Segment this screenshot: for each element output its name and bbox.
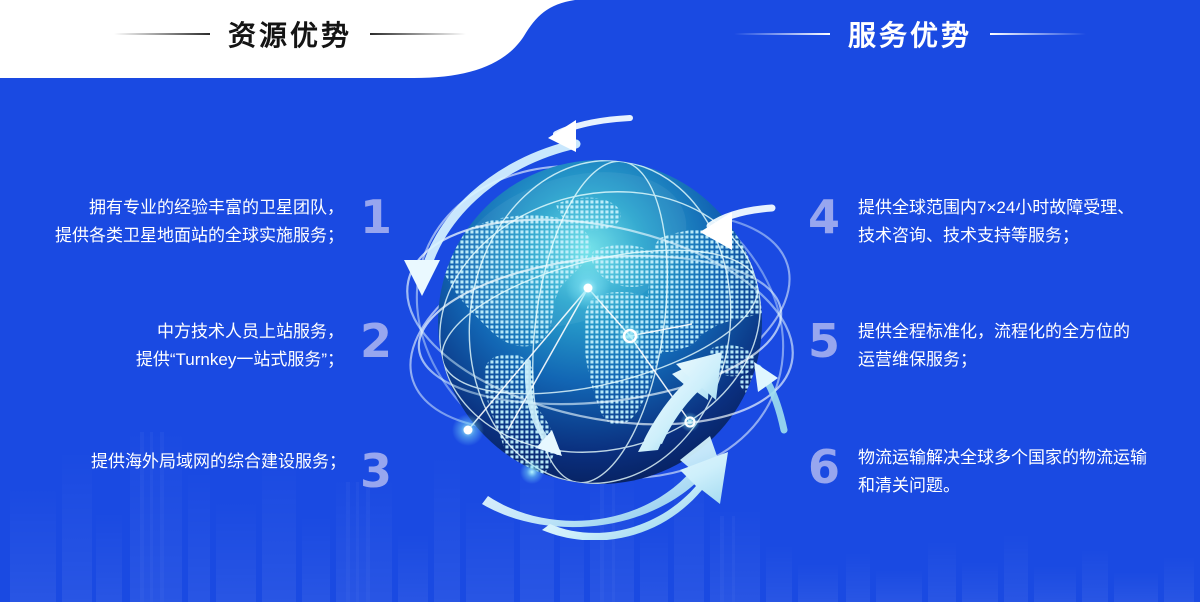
feature-item-3-text: 提供海外局域网的综合建设服务；	[91, 448, 346, 476]
feature-item-5[interactable]: 5 提供全程标准化，流程化的全方位的 运营维保服务；	[808, 318, 1130, 373]
feature-item-6[interactable]: 6 物流运输解决全球多个国家的物流运输 和清关问题。	[808, 444, 1147, 499]
feature-item-2-text: 中方技术人员上站服务， 提供“Turnkey一站式服务”；	[136, 318, 344, 373]
header-right-rule-start	[734, 33, 830, 35]
feature-item-5-text: 提供全程标准化，流程化的全方位的 运营维保服务；	[858, 318, 1130, 373]
header-left-rule-end	[370, 33, 466, 35]
feature-item-1-text: 拥有专业的经验丰富的卫星团队， 提供各类卫星地面站的全球实施服务；	[55, 194, 344, 249]
header-left-title: 资源优势	[228, 14, 352, 54]
feature-item-3[interactable]: 提供海外局域网的综合建设服务； 3	[91, 448, 392, 494]
header-right: 服务优势	[620, 14, 1200, 54]
header-left-rule-start	[114, 33, 210, 35]
header-left: 资源优势	[0, 14, 580, 54]
header-right-title: 服务优势	[848, 14, 972, 54]
globe-icon	[380, 100, 820, 540]
feature-item-1[interactable]: 拥有专业的经验丰富的卫星团队， 提供各类卫星地面站的全球实施服务； 1	[55, 194, 392, 249]
feature-item-6-text: 物流运输解决全球多个国家的物流运输 和清关问题。	[858, 444, 1147, 499]
feature-item-4[interactable]: 4 提供全球范围内7×24小时故障受理、 技术咨询、技术支持等服务；	[808, 194, 1134, 249]
header-right-rule-end	[990, 33, 1086, 35]
feature-item-4-text: 提供全球范围内7×24小时故障受理、 技术咨询、技术支持等服务；	[858, 194, 1134, 249]
slide-root: 资源优势 服务优势 拥有专业的经验丰富的卫星团队， 提供各类卫星地面站的全球实施…	[0, 0, 1200, 602]
globe-illustration	[380, 100, 820, 540]
feature-item-2[interactable]: 中方技术人员上站服务， 提供“Turnkey一站式服务”； 2	[136, 318, 392, 373]
